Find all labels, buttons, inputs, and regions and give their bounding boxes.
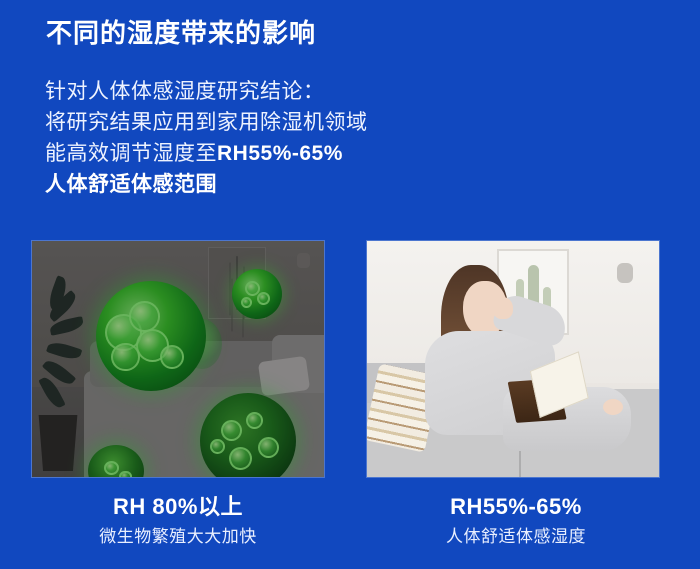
- panel-captions: RH 80%以上 微生物繁殖大大加快 RH55%-65% 人体舒适体感湿度: [0, 492, 700, 560]
- microbe-bump: [210, 439, 225, 454]
- body-copy: 针对人体体感湿度研究结论： 将研究结果应用到家用除湿机领域 能高效调节湿度至RH…: [45, 76, 505, 200]
- woman-reading: [407, 259, 617, 477]
- caption-title: RH 80%以上: [28, 492, 328, 522]
- microbe-bump: [241, 297, 252, 308]
- panel-high-humidity: [31, 240, 325, 478]
- microbe-bump: [246, 412, 263, 429]
- microbe-bump: [111, 343, 140, 372]
- wall-speaker: [617, 263, 633, 283]
- foot: [603, 399, 623, 415]
- bright-room-scene: [367, 241, 659, 477]
- microbe-small: [232, 269, 282, 319]
- dark-room-scene: [32, 241, 324, 477]
- microbe-bump: [258, 437, 279, 458]
- microbe-bump: [119, 471, 131, 477]
- body-line-1: 针对人体体感湿度研究结论：: [45, 76, 505, 107]
- caption-subtitle: 人体舒适体感湿度: [366, 525, 666, 549]
- panel-comfort-humidity: [366, 240, 660, 478]
- microbe-bump: [129, 301, 160, 332]
- caption-comfort-humidity: RH55%-65% 人体舒适体感湿度: [366, 492, 666, 549]
- microbe-bump: [221, 420, 242, 441]
- caption-high-humidity: RH 80%以上 微生物繁殖大大加快: [28, 492, 328, 549]
- comparison-panels: [31, 240, 666, 478]
- wall-speaker: [297, 253, 310, 268]
- hand-at-forehead: [493, 297, 513, 319]
- sofa-cushion: [258, 356, 310, 396]
- caption-subtitle: 微生物繁殖大大加快: [28, 525, 328, 549]
- microbe-bump: [104, 461, 120, 476]
- plant-leaf: [46, 339, 82, 362]
- plant-pot: [36, 415, 80, 471]
- potted-plant: [32, 299, 106, 477]
- page-title: 不同的湿度带来的影响: [46, 18, 316, 49]
- body-line-3: 能高效调节湿度至RH55%-65%: [45, 138, 505, 169]
- caption-title: RH55%-65%: [366, 492, 666, 522]
- microbe-bump: [229, 447, 252, 470]
- microbe-bump: [160, 345, 184, 369]
- humidity-impact-slide: 不同的湿度带来的影响 针对人体体感湿度研究结论： 将研究结果应用到家用除湿机领域…: [0, 0, 700, 569]
- microbe-bump: [257, 292, 270, 305]
- microbe-large: [96, 281, 206, 391]
- humidity-range-highlight: RH55%-65%: [217, 142, 343, 165]
- body-line-4: 人体舒适体感范围: [45, 169, 505, 200]
- body-line-2: 将研究结果应用到家用除湿机领域: [45, 107, 505, 138]
- body-line-3-prefix: 能高效调节湿度至: [45, 142, 217, 165]
